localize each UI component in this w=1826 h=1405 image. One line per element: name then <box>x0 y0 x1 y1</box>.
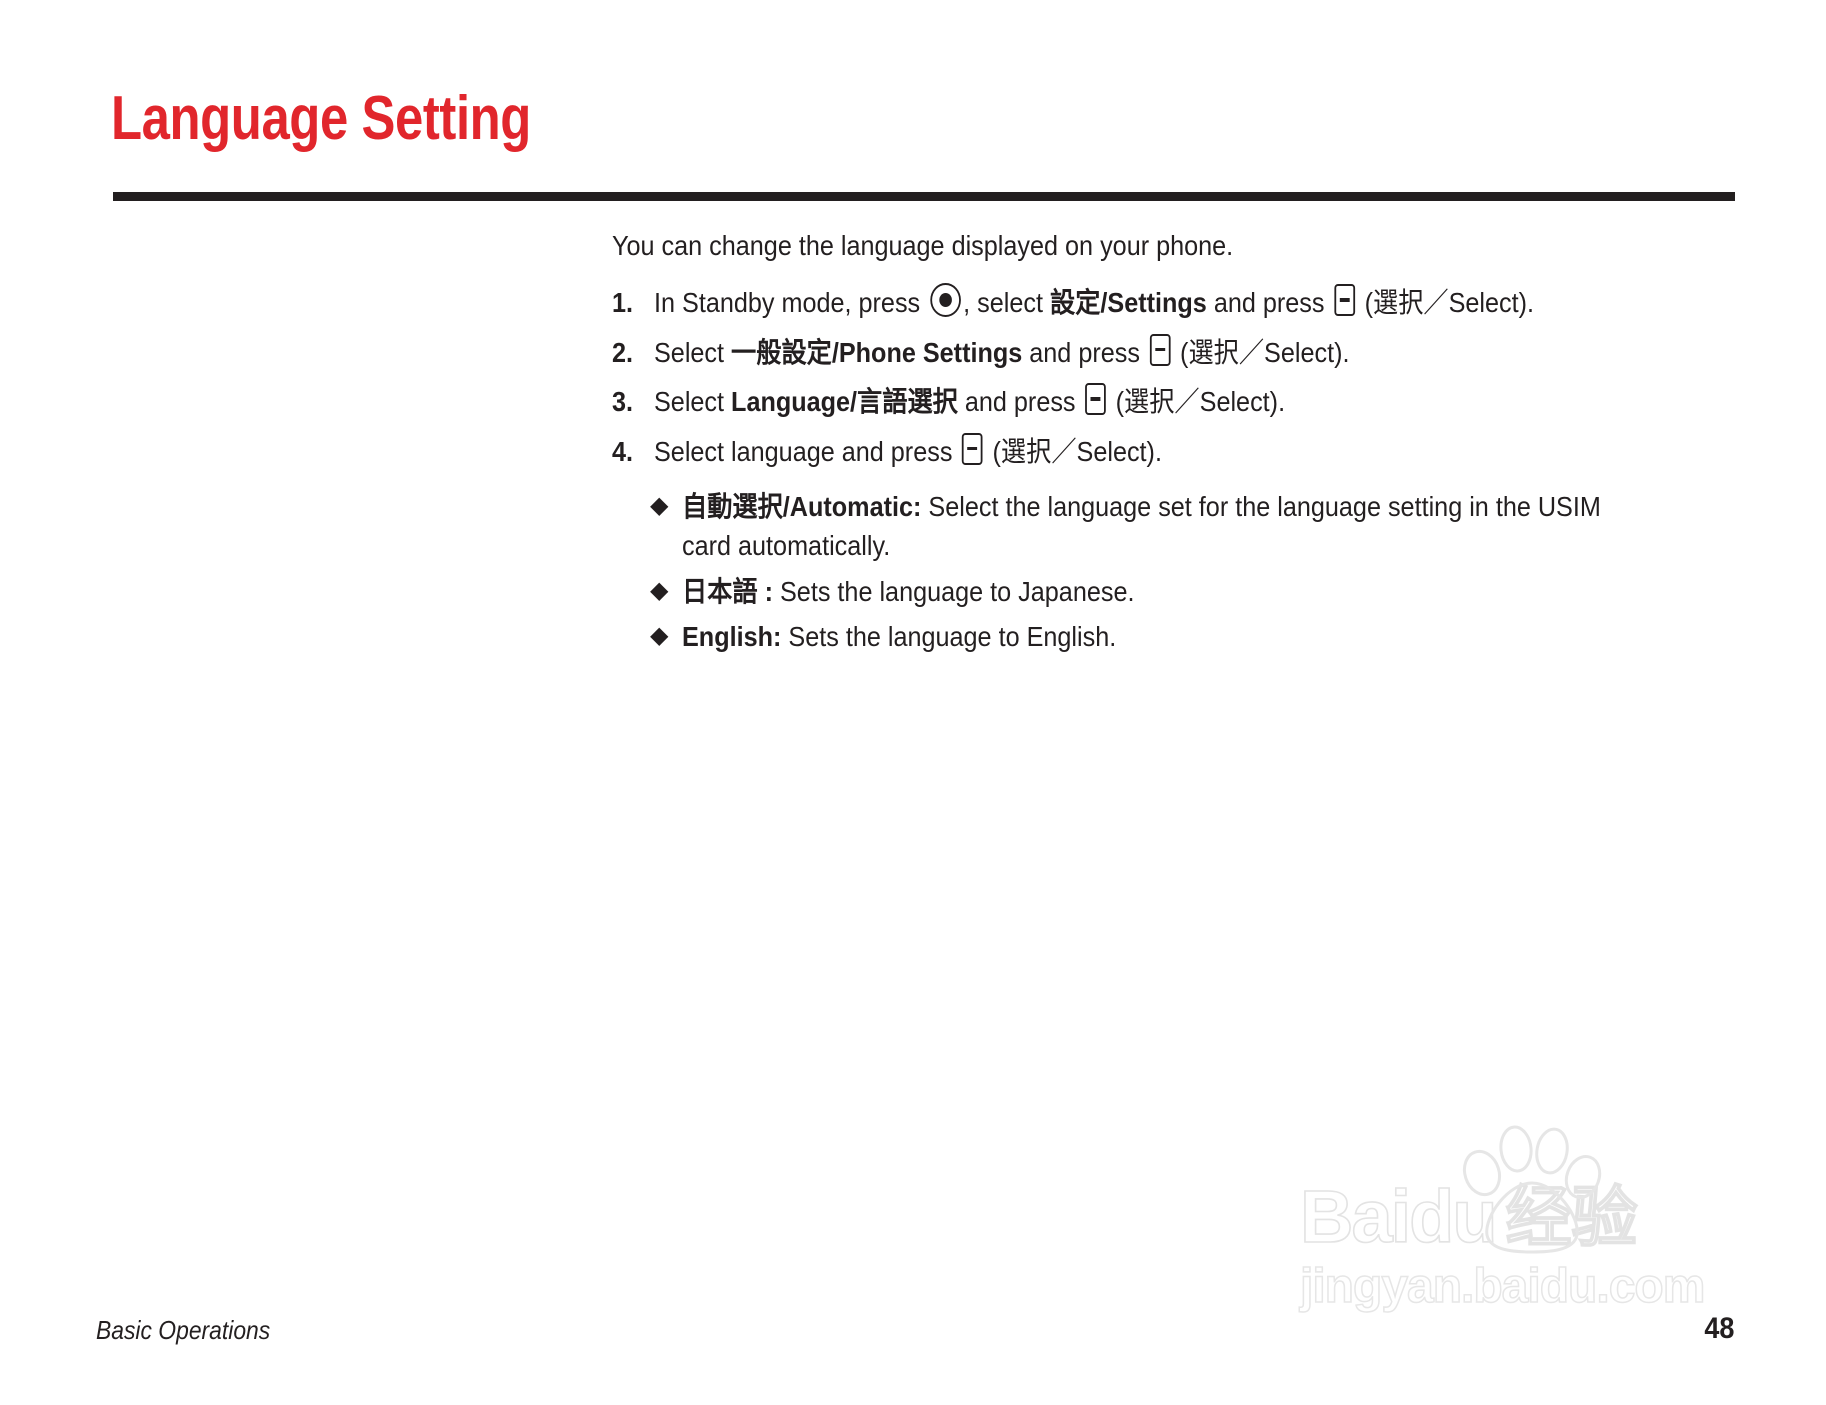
bullet-item: ◆日本語 : Sets the language to Japanese. <box>650 573 1712 612</box>
manual-page: Language Setting You can change the lang… <box>0 0 1826 1405</box>
footer-section-label: Basic Operations <box>96 1315 270 1346</box>
bullet-label: 日本語 : <box>682 576 773 607</box>
center-key-icon <box>930 283 961 317</box>
step-text-run: (選択／Select). <box>1358 287 1534 318</box>
bullet-text: 日本語 : Sets the language to Japanese. <box>682 573 1609 612</box>
step-emphasis: 一般設定/Phone Settings <box>731 337 1022 368</box>
intro-paragraph: You can change the language displayed on… <box>612 228 1602 265</box>
diamond-bullet-icon: ◆ <box>650 573 682 609</box>
step-text-run: Select language and press <box>654 436 959 467</box>
step-number: 3. <box>612 382 650 423</box>
softkey-icon <box>1334 284 1355 316</box>
step-text: Select Language/言語選択 and press (選択／Selec… <box>654 382 1606 423</box>
watermark-brand-cn: 经验 <box>1506 1184 1638 1250</box>
step-item: 1.In Standby mode, press , select 設定/Set… <box>612 283 1712 324</box>
page-title: Language Setting <box>111 88 531 150</box>
diamond-bullet-icon: ◆ <box>650 618 682 654</box>
bullet-text: 自動選択/Automatic: Select the language set … <box>682 488 1609 565</box>
paw-print-icon <box>1452 1125 1602 1255</box>
step-emphasis: 設定/Settings <box>1050 287 1207 318</box>
step-text: In Standby mode, press , select 設定/Setti… <box>654 283 1606 324</box>
step-text-run: and press <box>1207 287 1332 318</box>
bullet-description: Sets the language to Japanese. <box>773 576 1134 607</box>
header-divider <box>113 192 1735 201</box>
step-number: 2. <box>612 333 650 374</box>
step-text-run: (選択／Select). <box>1173 337 1349 368</box>
step-text-run: (選択／Select). <box>986 436 1162 467</box>
step-text-run: Select <box>654 337 731 368</box>
content-column: You can change the language displayed on… <box>612 228 1712 664</box>
softkey-icon <box>962 433 983 465</box>
step-number: 1. <box>612 283 650 324</box>
step-text-run: In Standby mode, press <box>654 287 927 318</box>
step-text: Select 一般設定/Phone Settings and press (選択… <box>654 333 1606 374</box>
option-bullet-list: ◆自動選択/Automatic: Select the language set… <box>650 488 1712 657</box>
step-text-run: , select <box>963 287 1050 318</box>
watermark-logo: Baidu 经验 <box>1300 1180 1638 1254</box>
page-number: 48 <box>1704 1312 1734 1346</box>
step-text-run: and press <box>1022 337 1147 368</box>
softkey-icon <box>1150 334 1171 366</box>
bullet-label: English: <box>682 621 781 652</box>
step-emphasis: Language/言語選択 <box>731 386 958 417</box>
step-item: 2.Select 一般設定/Phone Settings and press (… <box>612 333 1712 374</box>
watermark-url: jingyan.baidu.com <box>1300 1263 1704 1311</box>
step-text-run: (選択／Select). <box>1109 386 1285 417</box>
step-item: 3.Select Language/言語選択 and press (選択／Sel… <box>612 382 1712 423</box>
softkey-icon <box>1085 383 1106 415</box>
watermark-brand-text: Baidu <box>1300 1180 1496 1254</box>
numbered-steps-list: 1.In Standby mode, press , select 設定/Set… <box>612 283 1712 472</box>
baidu-watermark: Baidu 经验 jingyan.baidu.com <box>1300 1155 1740 1330</box>
bullet-text: English: Sets the language to English. <box>682 618 1609 657</box>
step-text-run: and press <box>958 386 1083 417</box>
bullet-item: ◆English: Sets the language to English. <box>650 618 1712 657</box>
bullet-label: 自動選択/Automatic: <box>682 491 921 522</box>
step-item: 4.Select language and press (選択／Select). <box>612 432 1712 473</box>
diamond-bullet-icon: ◆ <box>650 488 682 524</box>
step-number: 4. <box>612 432 650 473</box>
bullet-item: ◆自動選択/Automatic: Select the language set… <box>650 488 1712 565</box>
step-text-run: Select <box>654 386 731 417</box>
step-text: Select language and press (選択／Select). <box>654 432 1606 473</box>
bullet-description: Sets the language to English. <box>781 621 1116 652</box>
